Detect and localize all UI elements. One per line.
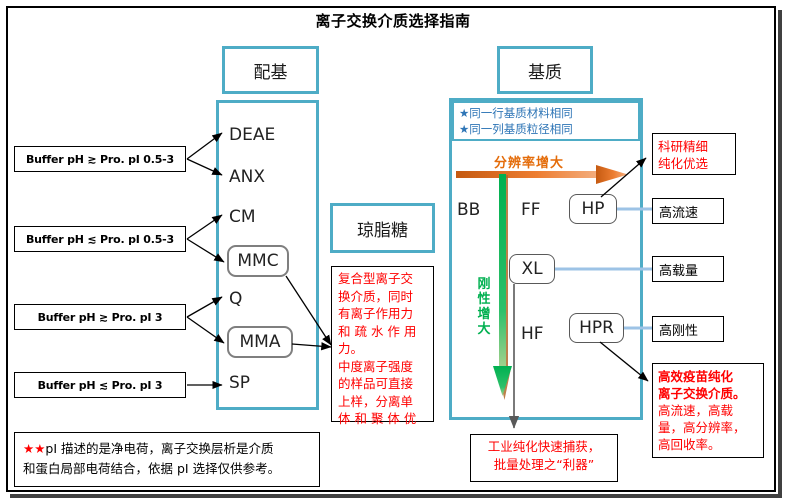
mixed-mode-line-5: 中度离子强度 [338, 358, 427, 376]
result-high-rigidity[interactable]: 高刚性 [652, 316, 724, 342]
ligand-mmc[interactable]: MMC [227, 245, 289, 277]
matrix-note-1: ★同一列基质粒径相同 [459, 121, 633, 137]
mixed-mode-line-3: 和 疏 水 作 用 [338, 323, 427, 341]
mixed-mode-line-7: 上样，分离单 [338, 393, 427, 411]
matrix-item-hpr[interactable]: HPR [569, 313, 624, 343]
result-research[interactable]: 科研精细 纯化优选 [652, 133, 736, 175]
mixed-mode-line-1: 换介质，同时 [338, 288, 427, 306]
result-research-line-0: 科研精细 [658, 138, 730, 155]
ligand-anx[interactable]: ANX [229, 167, 265, 187]
vaccine-title-line-1: 离子交换介质。 [658, 385, 758, 402]
frame-shadow-bottom [10, 494, 780, 498]
vaccine-title-line-0: 高效疫苗纯化 [658, 368, 758, 385]
ligand-mma[interactable]: MMA [227, 326, 293, 358]
mixed-mode-line-2: 有离子作用力 [338, 305, 427, 323]
vaccine-body-line-2: 高回收率。 [658, 436, 758, 453]
industrial-capture-callout: 工业纯化快速捕获， 批量处理之“利器” [470, 434, 618, 482]
mixed-mode-line-4: 力。 [338, 340, 427, 358]
result-high-flow[interactable]: 高流速 [652, 198, 724, 224]
ligand-sp[interactable]: SP [229, 373, 250, 393]
resolution-axis-label: 分辨率增大 [494, 152, 564, 171]
matrix-note-0: ★同一行基质材料相同 [459, 105, 633, 121]
vaccine-body-line-1: 量，高分辨率， [658, 419, 758, 436]
warning-line-0: ★★pI 描述的是净电荷，离子交换层析是介质 [23, 439, 311, 459]
frame-shadow-right [778, 10, 782, 498]
warning-text-0: pI 描述的是净电荷，离子交换层析是介质 [45, 441, 273, 456]
ligand-cm[interactable]: CM [229, 207, 256, 227]
ligand-deae[interactable]: DEAE [229, 125, 275, 145]
matrix-item-hp[interactable]: HP [569, 194, 617, 224]
mixed-mode-callout: 复合型离子交 换介质，同时 有离子作用力 和 疏 水 作 用 力。 中度离子强度… [331, 266, 434, 422]
result-research-line-1: 纯化优选 [658, 155, 730, 172]
warning-line-1: 和蛋白局部电荷结合，依据 pI 选择仅供参考。 [23, 459, 311, 479]
condition-box-2[interactable]: Buffer pH ≲ Pro. pI 0.5-3 [14, 226, 186, 252]
vaccine-body-line-0: 高流速，高载 [658, 402, 758, 419]
mixed-mode-line-6: 的样品可直接 [338, 375, 427, 393]
matrix-column-header: 基质 [497, 46, 593, 94]
rigidity-axis-label: 刚性增大 [477, 277, 491, 337]
mixed-mode-line-8: 体 和 聚 体 优 [338, 410, 427, 428]
result-vaccine-callout[interactable]: 高效疫苗纯化 离子交换介质。 高流速，高载 量，高分辨率， 高回收率。 [652, 363, 764, 458]
matrix-item-bb[interactable]: BB [457, 200, 480, 220]
industrial-line-1: 批量处理之“利器” [477, 456, 611, 474]
ligand-q[interactable]: Q [229, 289, 242, 309]
warning-stars: ★★ [23, 441, 45, 456]
page-title: 离子交换介质选择指南 [0, 10, 786, 31]
matrix-notes: ★同一行基质材料相同 ★同一列基质粒径相同 [452, 101, 640, 141]
matrix-item-ff[interactable]: FF [521, 200, 541, 220]
condition-box-4[interactable]: Buffer pH ≲ Pro. pI 3 [14, 372, 186, 398]
ligand-column-header: 配基 [222, 46, 319, 94]
agarose-header: 琼脂糖 [330, 203, 435, 253]
pi-warning-box: ★★pI 描述的是净电荷，离子交换层析是介质 和蛋白局部电荷结合，依据 pI 选… [14, 432, 320, 487]
matrix-item-xl[interactable]: XL [509, 254, 555, 284]
industrial-line-0: 工业纯化快速捕获， [477, 438, 611, 456]
diagram-canvas: 离子交换介质选择指南 配基 DEAE ANX CM MMC Q MMA SP 琼… [0, 0, 786, 502]
condition-box-3[interactable]: Buffer pH ≳ Pro. pI 3 [14, 304, 186, 330]
mixed-mode-line-0: 复合型离子交 [338, 270, 427, 288]
matrix-item-hf[interactable]: HF [521, 324, 544, 344]
result-high-capacity[interactable]: 高载量 [652, 256, 724, 282]
condition-box-1[interactable]: Buffer pH ≳ Pro. pI 0.5-3 [14, 146, 186, 172]
